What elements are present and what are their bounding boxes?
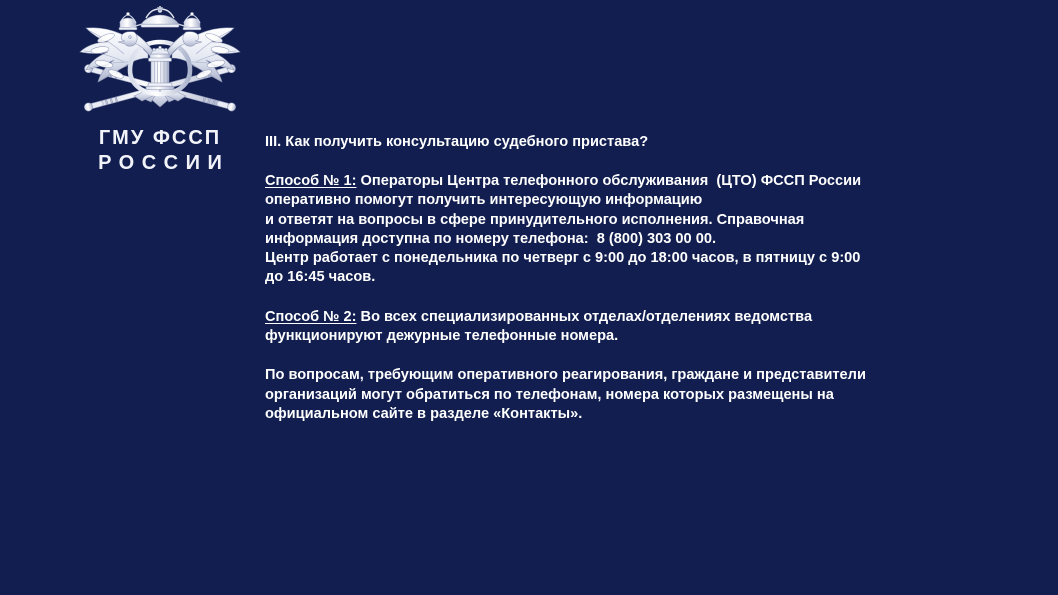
method-1-line-2: оперативно помогут получить интересующую… (265, 191, 1005, 210)
emblem-caption: ГМУ ФССП РОССИИ (62, 126, 258, 176)
fssp-eagle-icon (62, 6, 258, 130)
method-1-line-1: Способ № 1: Операторы Центра телефонного… (265, 172, 1005, 191)
method-1-line-3: и ответят на вопросы в сфере принудитель… (265, 211, 1005, 230)
method-2-line-1: Способ № 2: Во всех специализированных о… (265, 308, 1005, 327)
emblem-caption-line-1: ГМУ ФССП (62, 126, 258, 150)
method-2-line-1-text: Во всех специализированных отделах/отдел… (356, 309, 812, 325)
method-1-paragraph: Способ № 1: Операторы Центра телефонного… (265, 172, 1005, 288)
method-2-line-2: функционируют дежурные телефонные номера… (265, 327, 1005, 346)
method-2-label: Способ № 2: (265, 309, 356, 325)
spacer-after-title (265, 152, 1005, 172)
page-title: III. Как получить консультацию судебного… (265, 133, 1005, 152)
method-1-line-4: информация доступна по номеру телефона: … (265, 230, 1005, 249)
imperial-crown-icon (119, 6, 201, 30)
spacer-after-method-1 (265, 288, 1005, 308)
method-1-label: Способ № 1: (265, 173, 356, 189)
closing-line-1: По вопросам, требующим оперативного реаг… (265, 366, 1005, 385)
emblem-caption-line-2: РОССИИ (62, 150, 258, 176)
closing-paragraph: По вопросам, требующим оперативного реаг… (265, 366, 1005, 424)
method-2-paragraph: Способ № 2: Во всех специализированных о… (265, 308, 1005, 347)
fssp-emblem: ГМУ ФССП РОССИИ (62, 6, 258, 174)
slide-content: III. Как получить консультацию судебного… (265, 133, 1005, 424)
method-1-line-1-text: Операторы Центра телефонного обслуживани… (356, 173, 861, 189)
method-1-line-6: до 16:45 часов. (265, 268, 1005, 287)
closing-line-2: организаций могут обратиться по телефона… (265, 386, 1005, 405)
slide-root: ГМУ ФССП РОССИИ III. Как получить консул… (0, 0, 1058, 595)
spacer-after-method-2 (265, 346, 1005, 366)
closing-line-3: официальном сайте в разделе «Контакты». (265, 405, 1005, 424)
method-1-line-5: Центр работает с понедельника по четверг… (265, 249, 1005, 268)
